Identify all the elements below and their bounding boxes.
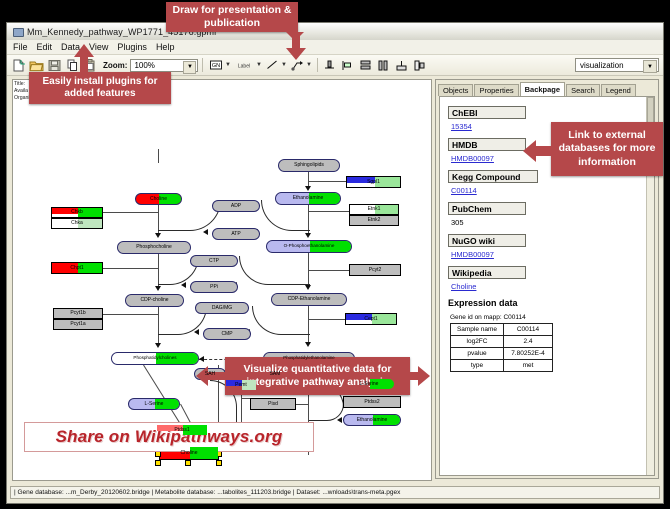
save-icon[interactable]	[47, 58, 62, 73]
node-label: Ethanolamine	[293, 196, 324, 201]
db-link-kegg-compound[interactable]: C00114	[451, 186, 639, 195]
expression-data-heading: Expression data	[448, 298, 639, 308]
callout-draw: Draw for presentation & publication	[166, 2, 298, 32]
node-sgpl1[interactable]: Sgpl1	[346, 176, 401, 188]
pathway-canvas[interactable]: Title: Availa Organi	[12, 79, 432, 481]
table-cell-key: Sample name	[451, 324, 504, 336]
callout-links: Link to external databases for more info…	[551, 122, 663, 176]
order-icon[interactable]	[412, 58, 427, 73]
db-link-wikipedia[interactable]: Choline	[451, 282, 639, 291]
canvas-meta-availability: Availa	[14, 88, 30, 95]
node-phosphocholine[interactable]: Phosphocholine	[117, 241, 191, 254]
node-chpt1[interactable]: Chpt1	[51, 262, 103, 274]
edge-line	[308, 181, 346, 182]
stack-horizontal-icon[interactable]	[376, 58, 391, 73]
side-panel-tabs: Objects Properties Backpage Search Legen…	[438, 82, 637, 96]
node-label: Phosphocholine	[136, 245, 172, 250]
edge-line	[296, 404, 308, 405]
edge-curve	[239, 256, 310, 285]
node-dag-mg[interactable]: DAG/MG	[195, 302, 249, 314]
datanode-icon[interactable]: GN	[209, 58, 223, 72]
table-cell-key: type	[451, 360, 504, 372]
tab-objects[interactable]: Objects	[438, 84, 473, 96]
node-pcyt1a[interactable]: Pcyt1a	[53, 319, 103, 330]
table-cell-key: log2FC	[451, 336, 504, 348]
db-link-nugo-wiki[interactable]: HMDB00097	[451, 250, 639, 259]
screenshot-root: Mm_Kennedy_pathway_WP1771_45176.gpml Fil…	[0, 0, 670, 509]
node-label: Pcyt1a	[70, 322, 85, 327]
menu-item-edit[interactable]: Edit	[37, 42, 53, 52]
tab-backpage[interactable]: Backpage	[520, 82, 565, 96]
node-label: L-Serine	[360, 382, 379, 387]
chevron-down-icon[interactable]: ▼	[183, 61, 196, 74]
edge-arrow-icon	[305, 342, 311, 347]
zoom-value: 100%	[134, 61, 154, 70]
node-label: O-Phosphoethanolamine	[284, 244, 335, 249]
table-row: type met	[451, 360, 553, 372]
edge-line	[103, 314, 158, 315]
visualization-value: visualization	[580, 61, 624, 70]
node-label: CDP-choline	[140, 298, 168, 303]
label-icon[interactable]: Label	[234, 58, 254, 72]
status-bar: | Gene database: ...m_Derby_20120602.bri…	[10, 486, 660, 499]
node-label: PPi	[210, 285, 218, 290]
db-value-pubchem: 305	[451, 218, 639, 227]
open-folder-icon[interactable]	[29, 58, 44, 73]
node-sphingolipids[interactable]: Sphingolipids	[278, 159, 340, 172]
callout-plugins-arrow-icon	[72, 44, 96, 79]
callout-visualize-left-arrow-icon	[196, 364, 226, 393]
canvas-meta: Title: Availa Organi	[14, 81, 30, 102]
node-adp[interactable]: ADP	[212, 200, 260, 212]
tab-legend[interactable]: Legend	[601, 84, 636, 96]
callout-visualize-right-arrow-icon	[404, 364, 430, 393]
db-header-wikipedia: Wikipedia	[448, 266, 526, 279]
db-header-nugo-wiki: NuGO wiki	[448, 234, 526, 247]
node-label: CDP-Ethanolamine	[288, 297, 331, 302]
node-label: Chkb	[71, 210, 83, 215]
node-label: Phosphatidylethanolamine	[283, 356, 335, 360]
zoom-label: Zoom:	[103, 61, 127, 70]
stack-vertical-icon[interactable]	[358, 58, 373, 73]
edge-line	[103, 212, 158, 213]
db-header-pubchem: PubChem	[448, 202, 526, 215]
db-header-chebi: ChEBI	[448, 106, 526, 119]
app-icon	[12, 26, 23, 37]
db-header-kegg-compound: Kegg Compound	[448, 170, 538, 183]
align-top-icon[interactable]	[322, 58, 337, 73]
gene-id-line: Gene id on mapp: C00114	[450, 314, 639, 321]
node-label: Etnk1	[368, 207, 381, 212]
node-cdp-ethanolamine[interactable]: CDP-Ethanolamine	[271, 293, 347, 306]
node-label: Sgpl1	[367, 180, 380, 185]
resize-handle-sw[interactable]	[155, 460, 161, 466]
visualization-chevron-down-icon[interactable]: ▼	[643, 60, 657, 73]
node-label: Choline	[181, 451, 198, 456]
node-label: Choline	[150, 197, 167, 202]
svg-text:GN: GN	[212, 63, 220, 69]
menu-item-file[interactable]: File	[13, 42, 28, 52]
menu-item-help[interactable]: Help	[156, 42, 175, 52]
resize-handle-se[interactable]	[216, 460, 222, 466]
node-ctp[interactable]: CTP	[190, 255, 238, 267]
toolbar-separator	[202, 58, 203, 72]
edge-arrow-icon	[155, 343, 161, 348]
table-cell-value: 7.80252E-4	[504, 348, 553, 360]
node-pisd[interactable]: Pisd	[250, 398, 296, 410]
edge-arrow-icon	[305, 233, 311, 238]
node-choline-top[interactable]: Choline	[135, 193, 182, 205]
edge-arrow-icon	[305, 186, 311, 191]
node-label: Pcyt1b	[70, 311, 85, 316]
table-cell-value: 2.4	[504, 336, 553, 348]
node-l-serine-left[interactable]: L-Serine	[128, 398, 180, 410]
node-label: Ethanolamine	[357, 418, 388, 423]
callout-plugins: Easily install plugins for added feature…	[29, 72, 171, 104]
table-row: log2FC 2.4	[451, 336, 553, 348]
resize-handle-s[interactable]	[185, 460, 191, 466]
callout-draw-arrow-icon	[284, 32, 308, 65]
label-chevron-down-icon[interactable]: ▼	[254, 58, 263, 72]
node-chka[interactable]: Chka	[51, 218, 103, 229]
table-cell-value: met	[504, 360, 553, 372]
node-label: Chka	[71, 221, 83, 226]
node-label: SAM	[270, 372, 281, 377]
edge-line	[308, 270, 349, 271]
node-etnk2[interactable]: Etnk2	[349, 215, 399, 226]
node-etnk1[interactable]: Etnk1	[349, 204, 399, 215]
node-label: Pcyt2	[369, 268, 382, 273]
node-chkb[interactable]: Chkb	[51, 207, 103, 218]
title-bar: Mm_Kennedy_pathway_WP1771_45176.gpml	[7, 23, 663, 41]
edge-curve	[252, 306, 310, 335]
node-ethanolamine-top[interactable]: Ethanolamine	[275, 192, 341, 205]
node-label: CTP	[209, 259, 219, 264]
edge-line	[308, 211, 349, 212]
edge-arrow-icon	[181, 282, 186, 288]
align-left-icon[interactable]	[340, 58, 355, 73]
node-label: ADP	[231, 204, 241, 209]
svg-text:Label: Label	[238, 64, 250, 70]
edge-arrow-icon	[194, 329, 199, 335]
node-label: Pisd	[268, 402, 278, 407]
table-row: pvalue 7.80252E-4	[451, 348, 553, 360]
callout-links-arrow-icon	[523, 138, 553, 169]
node-label: Pemt	[235, 383, 247, 388]
node-label: Phosphatidylcholines	[133, 356, 176, 361]
expression-table: Sample name C00114 log2FC 2.4 pvalue 7.8…	[450, 323, 553, 372]
toolbar-separator-2	[317, 58, 318, 72]
node-pcyt1b[interactable]: Pcyt1b	[53, 308, 103, 319]
edge-line	[158, 149, 159, 163]
zoom-combo[interactable]: 100% ▼	[130, 59, 198, 72]
canvas-meta-organism: Organi	[14, 95, 30, 102]
edge-arrow-icon	[203, 229, 208, 235]
node-label: Chpt1	[70, 266, 83, 271]
node-ppi[interactable]: PPi	[190, 281, 238, 293]
new-file-icon[interactable]	[11, 58, 26, 73]
node-label: Sphingolipids	[294, 163, 324, 168]
node-label: Cept1	[364, 317, 377, 322]
table-cell-value: C00114	[504, 324, 553, 336]
node-cmp[interactable]: CMP	[203, 328, 251, 340]
edge-line	[308, 319, 345, 320]
node-label: ATP	[231, 232, 240, 237]
node-label: SAH	[205, 372, 215, 377]
canvas-meta-title: Title:	[14, 81, 30, 88]
node-label: CMP	[221, 332, 232, 337]
tab-properties[interactable]: Properties	[474, 84, 518, 96]
node-atp[interactable]: ATP	[212, 228, 260, 240]
group-icon[interactable]	[394, 58, 409, 73]
node-ethanolamine-bottom[interactable]: Ethanolamine	[343, 414, 401, 426]
node-cept1[interactable]: Cept1	[345, 313, 397, 325]
node-label: L-Serine	[145, 402, 164, 407]
node-label: DAG/MG	[212, 306, 232, 311]
visualization-combo[interactable]: visualization ▼	[575, 58, 659, 72]
tab-search[interactable]: Search	[566, 84, 600, 96]
menu-bar: File Edit Data View Plugins Help	[7, 40, 663, 55]
node-pcyt2[interactable]: Pcyt2	[349, 264, 401, 276]
node-cdp-choline[interactable]: CDP-choline	[125, 294, 184, 307]
edge-arrow-icon	[155, 286, 161, 291]
edge-arrow-icon	[337, 417, 342, 423]
db-header-hmdb: HMDB	[448, 138, 526, 151]
node-ptdss2[interactable]: Ptdss2	[343, 396, 401, 408]
node-label: Ptdss1	[174, 428, 189, 433]
menu-item-plugins[interactable]: Plugins	[117, 42, 147, 52]
datanode-chevron-down-icon[interactable]: ▼	[223, 58, 232, 72]
edge-arrow-icon	[155, 233, 161, 238]
edge-line	[241, 398, 250, 399]
node-o-phosphoethanolamine[interactable]: O-Phosphoethanolamine	[266, 240, 352, 253]
edge-arrow-icon	[199, 356, 204, 362]
node-phosphatidylcholines[interactable]: Phosphatidylcholines	[111, 352, 199, 365]
edge-arrow-icon	[305, 285, 311, 290]
line-icon[interactable]	[265, 58, 279, 72]
node-label: Etnk2	[368, 218, 381, 223]
node-label: Ptdss2	[364, 400, 379, 405]
edge-line	[103, 268, 158, 269]
table-cell-key: pvalue	[451, 348, 504, 360]
table-row: Sample name C00114	[451, 324, 553, 336]
